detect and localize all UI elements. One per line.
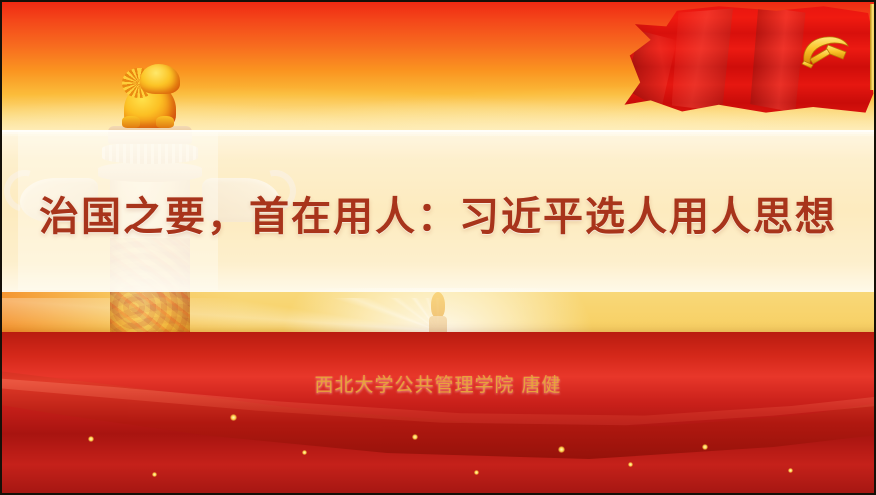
balustrade-icon (2, 431, 874, 487)
flag-cloth (614, 4, 876, 116)
huabiao-column-icon (98, 58, 202, 495)
sparkle-particle (230, 414, 237, 421)
sparkle-particle (474, 470, 479, 475)
presentation-slide: 治国之要，首在用人：习近平选人用人思想 西北大学公共管理学院 唐健 (0, 0, 876, 495)
huabiao-lower-disc (98, 162, 202, 182)
pavilion-icon (792, 437, 846, 471)
balustrade-rail (2, 434, 874, 441)
lion-mane (122, 68, 156, 98)
flag-fold (624, 31, 676, 109)
sparkle-particle (788, 468, 793, 473)
flag-fold (672, 8, 740, 111)
sparkle-particle (702, 444, 708, 450)
slide-title: 治国之要，首在用人：习近平选人用人思想 (2, 184, 874, 242)
guardian-lion-icon (118, 58, 182, 128)
lion-body (124, 84, 176, 128)
ribbon-highlight-shape (0, 346, 876, 466)
sparkle-particle (628, 462, 633, 467)
temple-base (328, 410, 548, 440)
bottom-architecture-band (2, 401, 874, 493)
red-ribbon-upper (0, 332, 876, 495)
sparkle-particle (302, 450, 307, 455)
distant-mountain-silhouette (0, 66, 876, 136)
sparkle-particle (558, 446, 565, 453)
huabiao-dragon-relief (110, 238, 190, 495)
huabiao-capital (108, 126, 192, 144)
temple-neck (429, 316, 447, 338)
hammer-and-sickle-emblem-icon (800, 32, 852, 72)
lion-paw-right (156, 116, 174, 128)
red-ribbon-highlight (0, 346, 876, 466)
slide-subtitle: 西北大学公共管理学院 唐健 (2, 370, 874, 397)
band-top-divider (2, 130, 874, 132)
lion-paw-left (122, 116, 140, 128)
pavilion-icon (362, 429, 416, 463)
temple-finial (431, 292, 445, 318)
lion-head (140, 64, 180, 94)
party-flag-icon (614, 4, 876, 120)
pavilion-icon (692, 433, 746, 467)
sparkle-particle (88, 436, 94, 442)
huabiao-upper-disc (102, 142, 198, 164)
flag-pole (870, 4, 876, 90)
sparkle-particle (152, 472, 157, 477)
pavilion-icon (522, 429, 576, 463)
flag-fold (750, 6, 808, 112)
sky-gradient-background (2, 2, 874, 134)
temple-upper-roof (362, 334, 514, 368)
sparkle-particle (412, 434, 418, 440)
near-mountain-silhouette (0, 88, 876, 136)
ribbon-shape (0, 332, 876, 495)
